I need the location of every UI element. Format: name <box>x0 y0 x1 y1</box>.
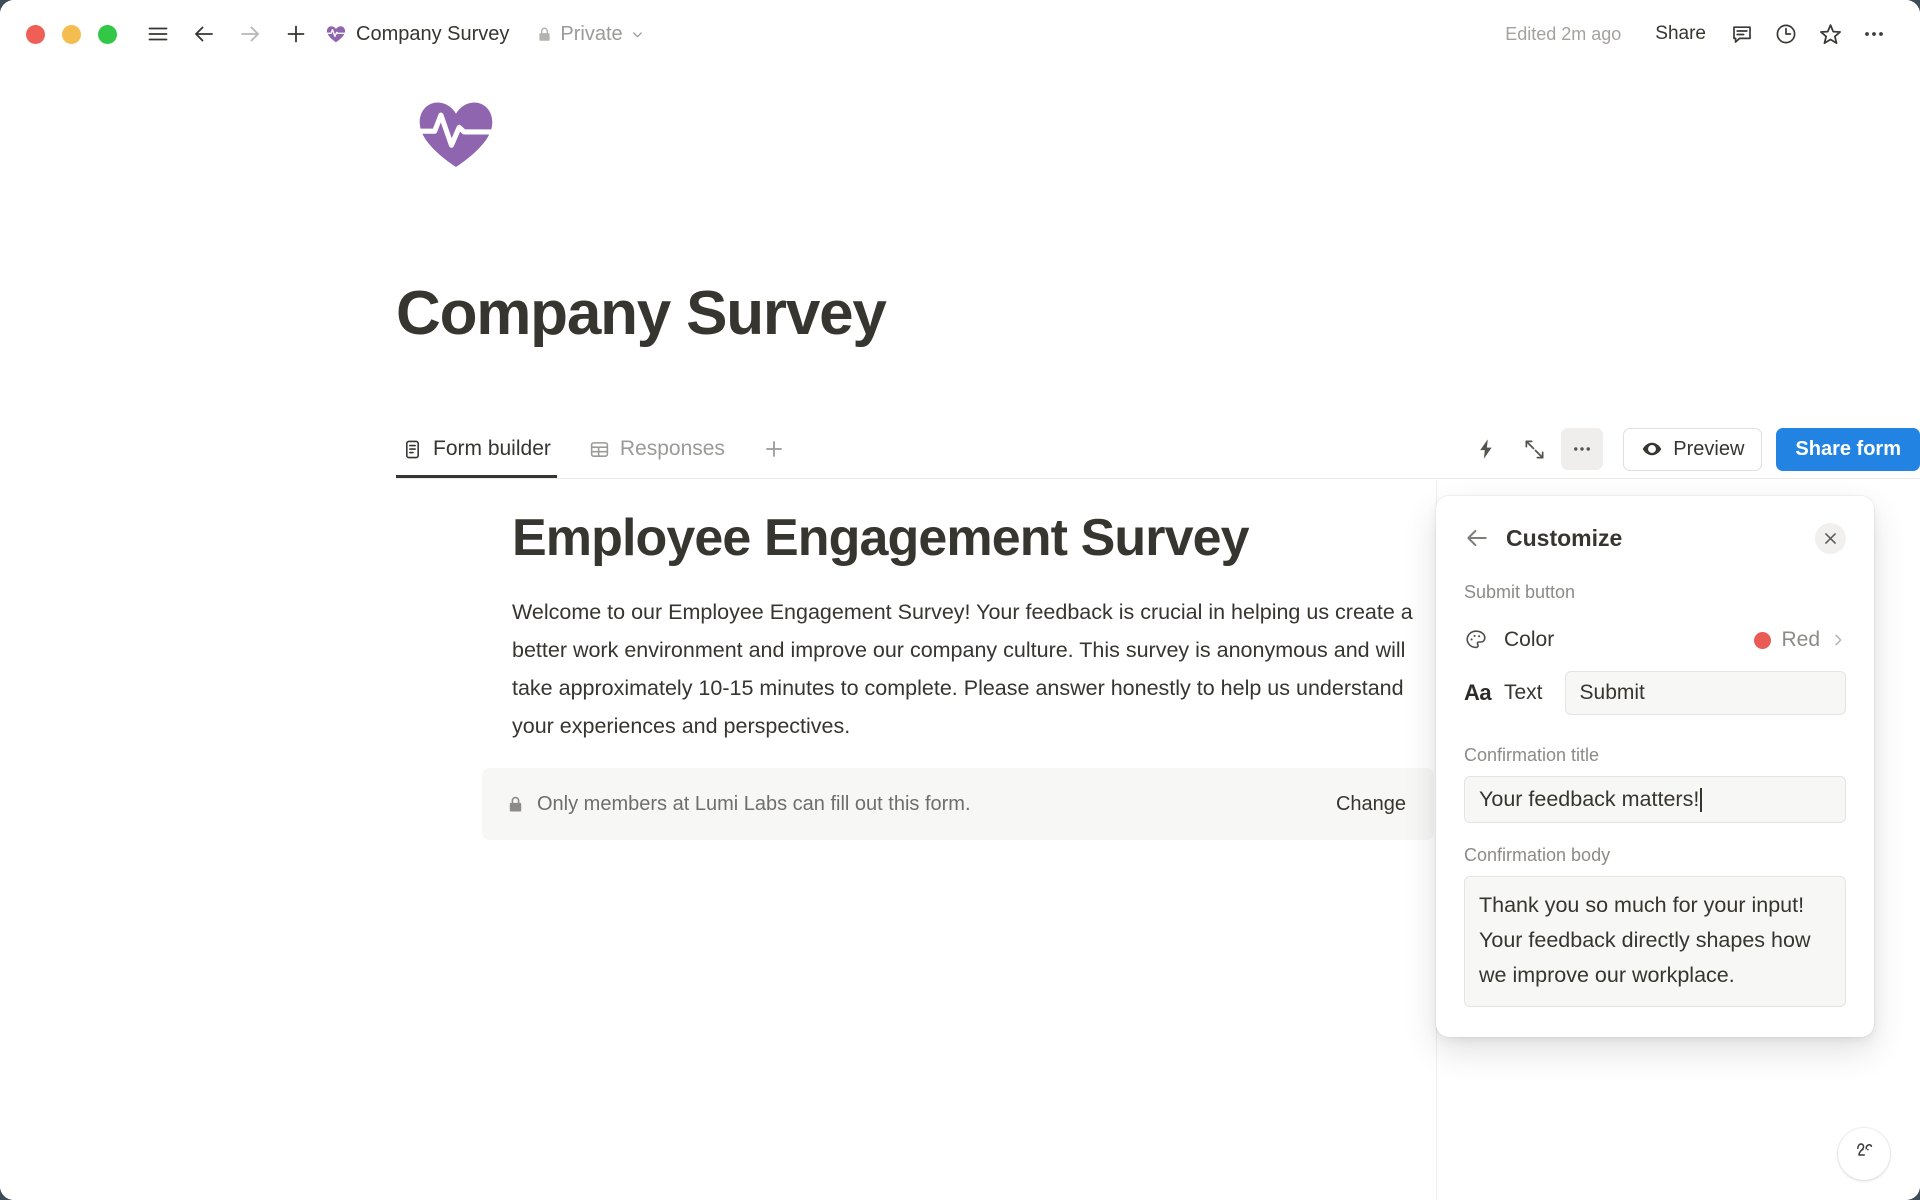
close-window-button[interactable] <box>26 25 45 44</box>
breadcrumb[interactable]: Company Survey Private <box>325 23 645 46</box>
traffic-lights <box>26 25 117 44</box>
privacy-selector[interactable]: Private <box>536 23 644 46</box>
more-options-icon[interactable] <box>1854 14 1894 54</box>
app-window: Company Survey Private Edited 2m ago Sha… <box>0 0 1920 1200</box>
titlebar: Company Survey Private Edited 2m ago Sha… <box>0 0 1920 68</box>
submit-color-row[interactable]: Color Red <box>1464 617 1846 663</box>
lightning-icon[interactable] <box>1465 428 1507 470</box>
permission-left: Only members at Lumi Labs can fill out t… <box>506 793 971 816</box>
lock-icon <box>536 26 553 43</box>
forward-icon[interactable] <box>231 15 269 53</box>
page-inner: Company Survey Form builder <box>0 68 1920 1200</box>
nav-controls <box>139 15 315 53</box>
confirmation-body-label: Confirmation body <box>1464 845 1846 866</box>
form-heading[interactable]: Employee Engagement Survey <box>512 508 1249 568</box>
help-assistant-button[interactable] <box>1838 1128 1890 1180</box>
submit-text-row[interactable]: Aa Text Submit <box>1464 663 1846 723</box>
share-button[interactable]: Share <box>1643 16 1718 52</box>
tab-responses-label: Responses <box>620 437 725 461</box>
back-icon[interactable] <box>185 15 223 53</box>
breadcrumb-title[interactable]: Company Survey <box>356 23 509 46</box>
share-form-button[interactable]: Share form <box>1776 428 1920 471</box>
lock-icon <box>506 795 525 814</box>
submit-color-value[interactable]: Red <box>1754 628 1846 652</box>
table-icon <box>589 439 610 460</box>
maximize-window-button[interactable] <box>98 25 117 44</box>
assistant-glyph-icon <box>1850 1137 1878 1172</box>
page-title[interactable]: Company Survey <box>396 278 886 349</box>
submit-text-label: Text <box>1504 681 1543 705</box>
add-tab-icon[interactable] <box>757 432 791 466</box>
page-icon[interactable] <box>410 88 502 180</box>
confirmation-title-label: Confirmation title <box>1464 745 1846 766</box>
customize-panel-header: Customize <box>1464 518 1846 558</box>
customize-panel: Customize Submit button <box>1436 496 1874 1037</box>
color-swatch <box>1754 632 1771 649</box>
submit-text-input[interactable]: Submit <box>1565 671 1846 715</box>
comment-icon[interactable] <box>1722 14 1762 54</box>
tabs-divider <box>396 478 1920 479</box>
confirmation-title-input[interactable]: Your feedback matters! <box>1464 776 1846 823</box>
tab-form-builder[interactable]: Form builder <box>396 420 557 478</box>
titlebar-actions: Edited 2m ago Share <box>1505 14 1894 54</box>
heartbeat-icon <box>325 23 347 45</box>
sidebar-toggle-icon[interactable] <box>139 15 177 53</box>
permission-text: Only members at Lumi Labs can fill out t… <box>537 793 971 816</box>
history-icon[interactable] <box>1766 14 1806 54</box>
palette-icon <box>1464 628 1498 652</box>
favorite-icon[interactable] <box>1810 14 1850 54</box>
page-body: Company Survey Form builder <box>0 68 1920 1200</box>
permission-change-button[interactable]: Change <box>1336 793 1406 816</box>
chevron-right-icon <box>1830 632 1846 648</box>
text-format-icon: Aa <box>1464 680 1498 706</box>
submit-button-section-label: Submit button <box>1464 582 1846 603</box>
permission-banner: Only members at Lumi Labs can fill out t… <box>482 768 1434 840</box>
ellipsis-icon[interactable] <box>1561 428 1603 470</box>
preview-button-label: Preview <box>1673 438 1744 461</box>
tab-responses[interactable]: Responses <box>583 420 731 478</box>
minimize-window-button[interactable] <box>62 25 81 44</box>
tab-form-builder-label: Form builder <box>433 437 551 461</box>
chevron-down-icon <box>630 27 645 42</box>
submit-color-value-label: Red <box>1781 628 1820 652</box>
submit-color-label: Color <box>1504 628 1554 652</box>
customize-panel-title: Customize <box>1506 525 1622 552</box>
preview-button[interactable]: Preview <box>1623 428 1762 471</box>
last-edited-label: Edited 2m ago <box>1505 24 1621 45</box>
document-icon <box>402 439 423 460</box>
eye-icon <box>1641 438 1663 460</box>
form-preview-area: Employee Engagement Survey Welcome to ou… <box>0 480 1437 1200</box>
new-page-icon[interactable] <box>277 15 315 53</box>
form-description[interactable]: Welcome to our Employee Engagement Surve… <box>512 593 1430 745</box>
confirmation-title-value: Your feedback matters! <box>1479 787 1699 812</box>
text-caret <box>1700 788 1702 812</box>
back-arrow-icon[interactable] <box>1464 525 1490 551</box>
close-icon[interactable] <box>1815 523 1846 554</box>
privacy-label: Private <box>560 23 622 46</box>
expand-icon[interactable] <box>1513 428 1555 470</box>
confirmation-body-input[interactable]: Thank you so much for your input! Your f… <box>1464 876 1846 1007</box>
share-form-button-label: Share form <box>1795 438 1901 461</box>
tabs-toolbar: Form builder Responses <box>396 418 1920 480</box>
